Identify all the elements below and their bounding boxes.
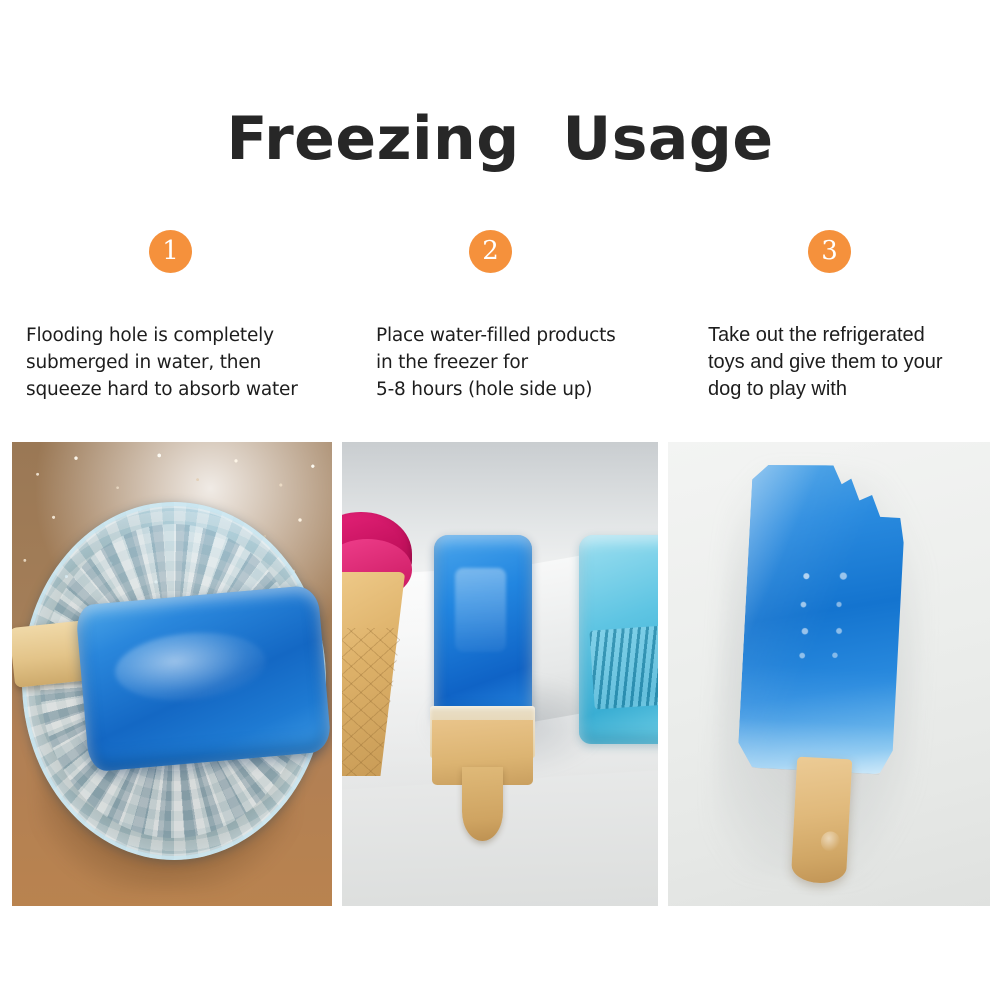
step-photo-1 [12,442,332,906]
step-number-badge-2: 2 [469,230,512,273]
step-2: 2 Place water-filled products in the fre… [352,230,672,403]
blue-popsicle-toy [76,585,332,773]
step-number-badge-3: 3 [808,230,851,273]
ice-bubbles [788,565,864,671]
freezing-usage-infographic: Freezing Usage 1 Flooding hole is comple… [0,0,1000,1000]
popsicle-stick [790,756,851,884]
step-number-badge-1: 1 [149,230,192,273]
steps-row: 1 Flooding hole is completely submerged … [0,230,1000,420]
popsicle-stick-tip [462,767,503,841]
step-1: 1 Flooding hole is completely submerged … [14,230,344,403]
cyan-toy-ribs [589,625,658,709]
step-photo-2 [342,442,658,906]
page-title: Freezing Usage [0,104,1000,174]
step-3: 3 Take out the refrigerated toys and giv… [686,230,996,403]
step-photo-3 [668,442,990,906]
step-caption-3: Take out the refrigerated toys and give … [686,322,996,403]
step-caption-1: Flooding hole is completely submerged in… [26,322,344,403]
blue-popsicle-toy [434,535,532,721]
photo-strip [12,442,990,906]
step-caption-2: Place water-filled products in the freez… [376,322,672,403]
